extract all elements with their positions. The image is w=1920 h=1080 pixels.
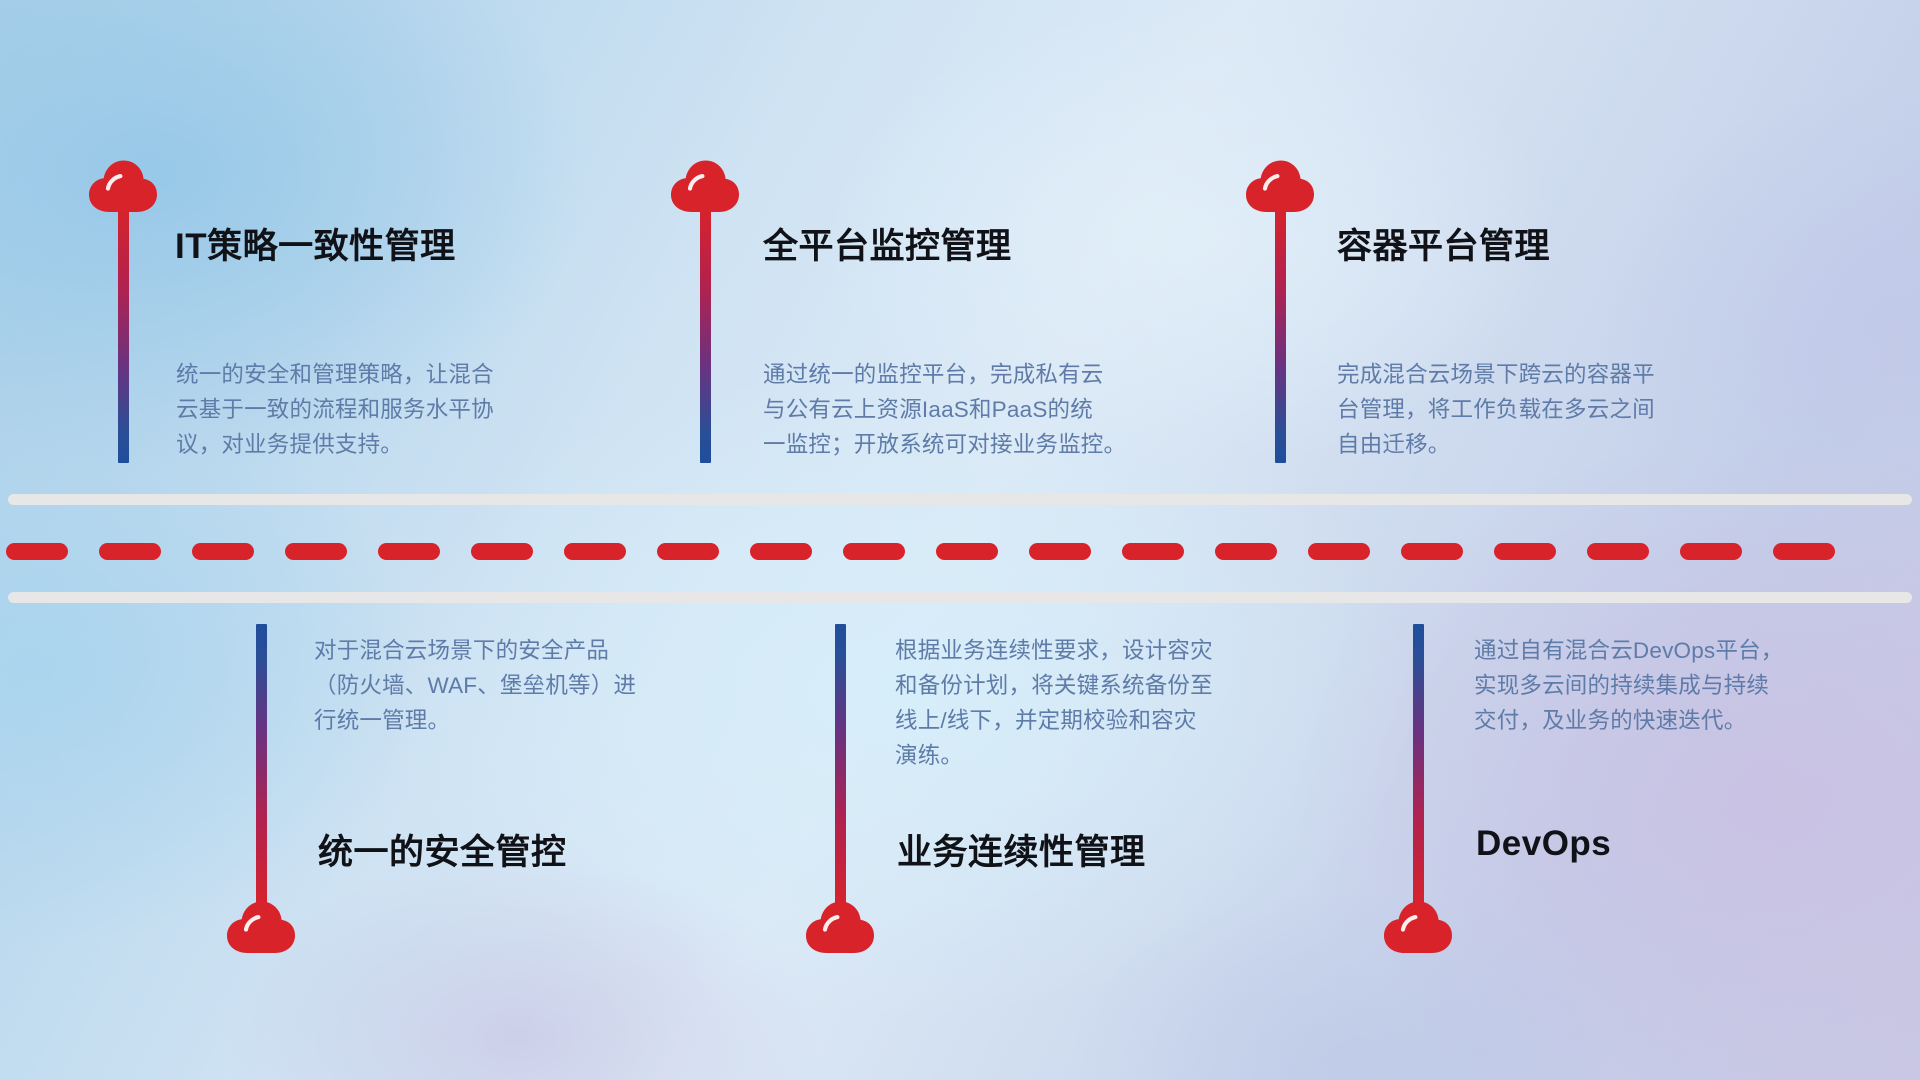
- road-dash: [1401, 543, 1463, 560]
- road-dash: [1494, 543, 1556, 560]
- road-dash: [1122, 543, 1184, 560]
- road-dash: [1215, 543, 1277, 560]
- column-heading: IT策略一致性管理: [175, 218, 456, 269]
- column-heading: DevOps: [1476, 824, 1611, 864]
- road-dash: [1773, 543, 1835, 560]
- column-body-text: 通过自有混合云DevOps平台， 实现多云间的持续集成与持续 交付，及业务的快速…: [1474, 633, 1783, 738]
- road-dash: [750, 543, 812, 560]
- road-dashed-centerline: [0, 543, 1920, 560]
- stem-line: [835, 624, 846, 909]
- stem-line: [700, 206, 711, 463]
- road-dash: [1587, 543, 1649, 560]
- column-heading: 全平台监控管理: [763, 218, 1012, 269]
- road-dash: [657, 543, 719, 560]
- road-line-bottom: [8, 592, 1912, 603]
- column-body-text: 根据业务连续性要求，设计容灾 和备份计划，将关键系统备份至 线上/线下，并定期校…: [895, 633, 1213, 773]
- column-heading: 容器平台管理: [1337, 218, 1550, 269]
- road-dash: [843, 543, 905, 560]
- stem-line: [1275, 206, 1286, 463]
- road-dash: [936, 543, 998, 560]
- column-heading: 业务连续性管理: [897, 824, 1146, 875]
- cloud-icon: [1381, 898, 1455, 954]
- road-dash: [6, 543, 68, 560]
- cloud-icon: [1243, 157, 1317, 213]
- column-body-text: 完成混合云场景下跨云的容器平 台管理，将工作负载在多云之间 自由迁移。: [1337, 357, 1655, 462]
- stem-line: [118, 206, 129, 463]
- road-dash: [1680, 543, 1742, 560]
- cloud-icon: [224, 898, 298, 954]
- road-dash: [285, 543, 347, 560]
- column-body-text: 统一的安全和管理策略，让混合 云基于一致的流程和服务水平协 议，对业务提供支持。: [176, 357, 494, 462]
- road-dash: [1308, 543, 1370, 560]
- road-line-top: [8, 494, 1912, 505]
- column-body-text: 对于混合云场景下的安全产品 （防火墙、WAF、堡垒机等）进 行统一管理。: [314, 633, 636, 738]
- road-dash: [471, 543, 533, 560]
- road-dash: [378, 543, 440, 560]
- road-dash: [99, 543, 161, 560]
- stem-line: [256, 624, 267, 909]
- stem-line: [1413, 624, 1424, 909]
- column-heading: 统一的安全管控: [318, 824, 567, 875]
- road-dash: [564, 543, 626, 560]
- infographic-canvas: IT策略一致性管理 统一的安全和管理策略，让混合 云基于一致的流程和服务水平协 …: [0, 0, 1920, 1080]
- cloud-icon: [86, 157, 160, 213]
- road-dash: [1029, 543, 1091, 560]
- cloud-icon: [803, 898, 877, 954]
- cloud-icon: [668, 157, 742, 213]
- column-body-text: 通过统一的监控平台，完成私有云 与公有云上资源IaaS和PaaS的统 一监控；开…: [763, 357, 1126, 462]
- road-dash: [192, 543, 254, 560]
